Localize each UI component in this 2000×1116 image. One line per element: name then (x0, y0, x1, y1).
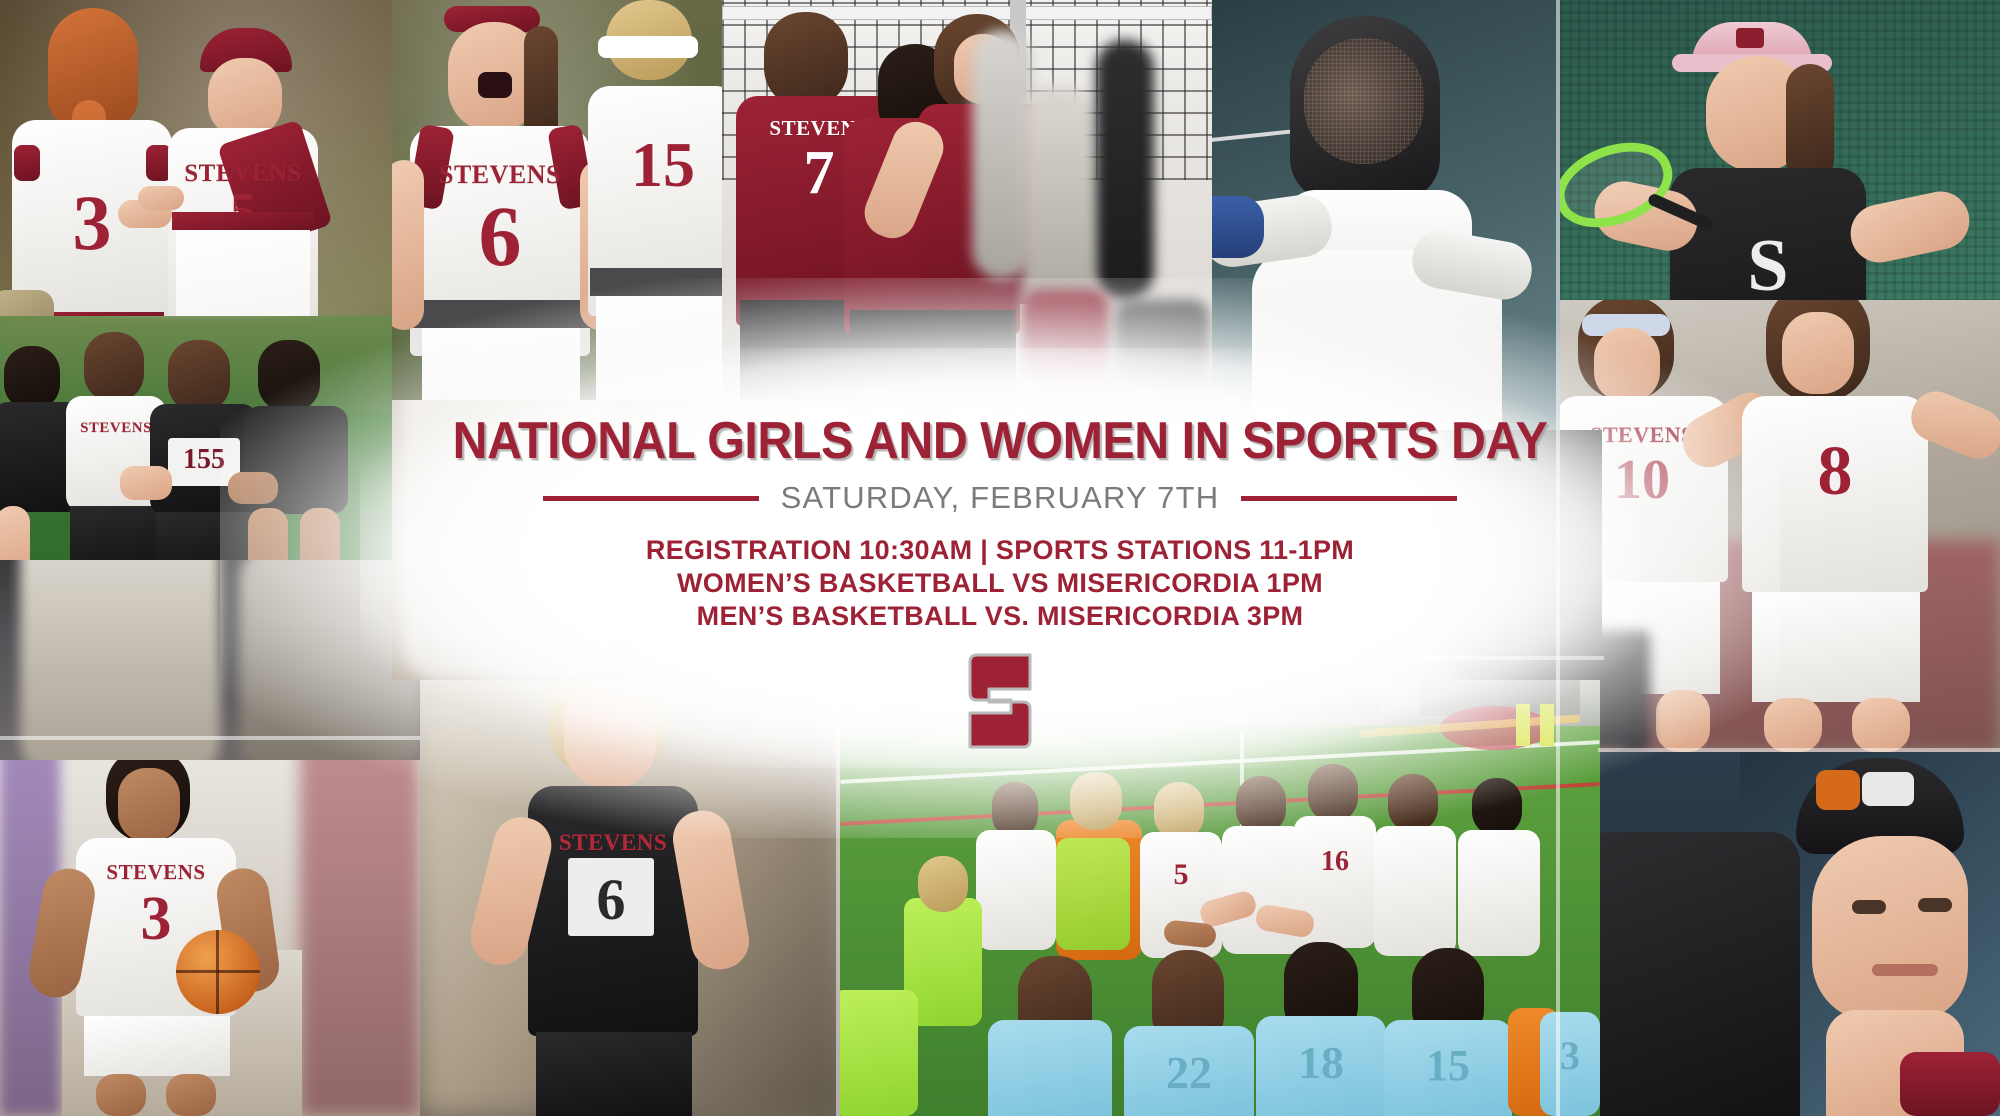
jersey-number: 15 (588, 128, 722, 202)
stevens-s-logo (967, 653, 1033, 749)
schedule-line-registration: REGISTRATION 10:30AM | SPORTS STATIONS 1… (0, 534, 2000, 567)
jersey-number: 6 (410, 186, 590, 286)
jersey-number: 5 (1140, 858, 1222, 892)
jersey-number: S (1670, 224, 1866, 309)
collage-tile-womens-basketball: STEVENS 3 (0, 740, 420, 1116)
jersey-number: 3 (1540, 1032, 1600, 1079)
schedule-line-mens-basketball: MEN’S BASKETBALL VS. MISERICORDIA 3PM (0, 600, 2000, 633)
jersey-number: 15 (1384, 1040, 1512, 1091)
subtitle-row: SATURDAY, FEBRUARY 7TH (0, 480, 2000, 516)
rule-right (1241, 496, 1457, 501)
rule-left (543, 496, 759, 501)
page-title: NATIONAL GIRLS AND WOMEN IN SPORTS DAY (70, 415, 1930, 467)
jersey-number: 16 (1294, 846, 1376, 878)
event-info-block: NATIONAL GIRLS AND WOMEN IN SPORTS DAY S… (0, 415, 2000, 749)
schedule-list: REGISTRATION 10:30AM | SPORTS STATIONS 1… (0, 534, 2000, 633)
jersey-wordmark: STEVENS (76, 860, 236, 885)
bib-number: 6 (568, 866, 654, 933)
collage-tile-swimming-athlete (1600, 752, 2000, 1116)
schedule-line-womens-basketball: WOMEN’S BASKETBALL VS MISERICORDIA 1PM (0, 567, 2000, 600)
poster-canvas: 3 STEVENS 5 (0, 0, 2000, 1116)
jersey-number: 18 (1256, 1036, 1386, 1089)
jersey-number: 22 (1124, 1046, 1254, 1099)
logo-container (0, 653, 2000, 749)
event-date: SATURDAY, FEBRUARY 7TH (781, 480, 1220, 516)
